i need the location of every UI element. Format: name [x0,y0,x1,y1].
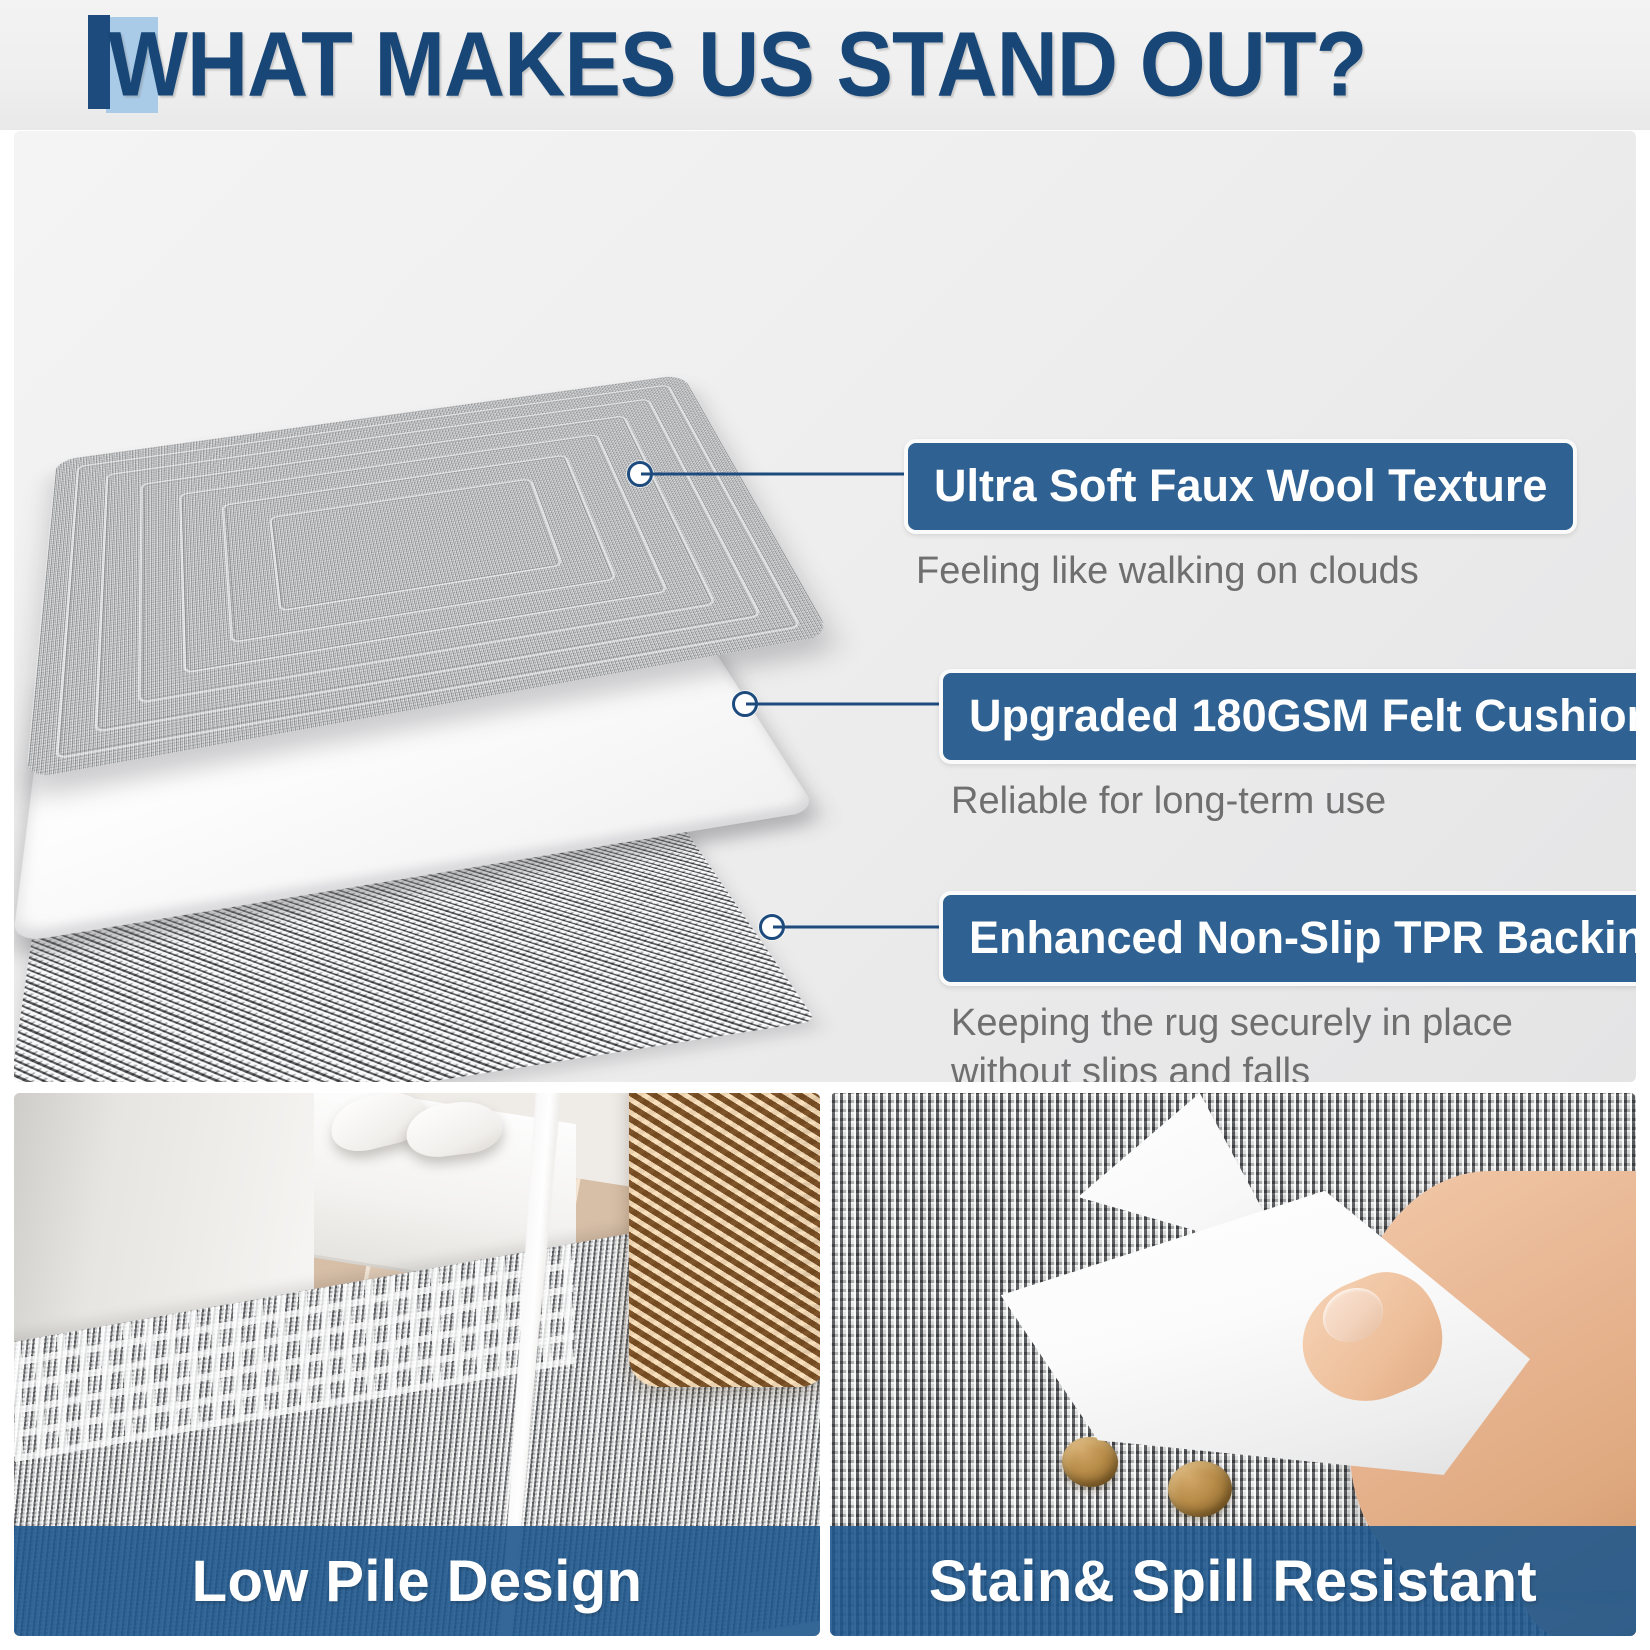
title-bar: WHAT MAKES US STAND OUT? [0,0,1650,130]
caption-bar-left: Low Pile Design [14,1526,820,1636]
leader-stroke-2 [746,703,958,706]
callout-badge-3: Enhanced Non-Slip TPR Backing [939,891,1636,986]
caption-bar-right: Stain& Spill Resistant [830,1526,1636,1636]
leader-stroke-1 [641,473,921,476]
page-title: WHAT MAKES US STAND OUT? [108,13,1366,118]
infographic-page: WHAT MAKES US STAND OUT? [0,0,1650,1650]
leader-stroke-3 [773,926,959,929]
leader-line-1 [627,461,917,487]
leader-line-2 [732,691,954,717]
caption-low-pile-design: Low Pile Design [192,1548,643,1615]
panel-stain-spill-resistant: Stain& Spill Resistant [830,1093,1636,1636]
white-towel [784,1093,820,1353]
callout-tpr-backing: Enhanced Non-Slip TPR Backing Keeping th… [939,891,1636,1082]
callout-felt-cushion: Upgraded 180GSM Felt Cushion Reliable fo… [939,669,1636,826]
callout-subtitle-1: Feeling like walking on clouds [916,547,1577,596]
panel-low-pile-design: Low Pile Design [14,1093,820,1636]
callout-subtitle-3: Keeping the rug securely in place withou… [951,999,1636,1082]
accent-dark-bar [88,15,110,109]
callout-ultra-soft-faux-wool: Ultra Soft Faux Wool Texture Feeling lik… [904,439,1577,596]
callout-badge-1: Ultra Soft Faux Wool Texture [904,439,1577,534]
hero-panel: Ultra Soft Faux Wool Texture Feeling lik… [14,131,1636,1082]
callout-badge-2: Upgraded 180GSM Felt Cushion [939,669,1636,764]
callout-subtitle-2: Reliable for long-term use [951,777,1636,826]
caption-stain-spill-resistant: Stain& Spill Resistant [929,1548,1537,1615]
leader-line-3 [759,914,955,940]
